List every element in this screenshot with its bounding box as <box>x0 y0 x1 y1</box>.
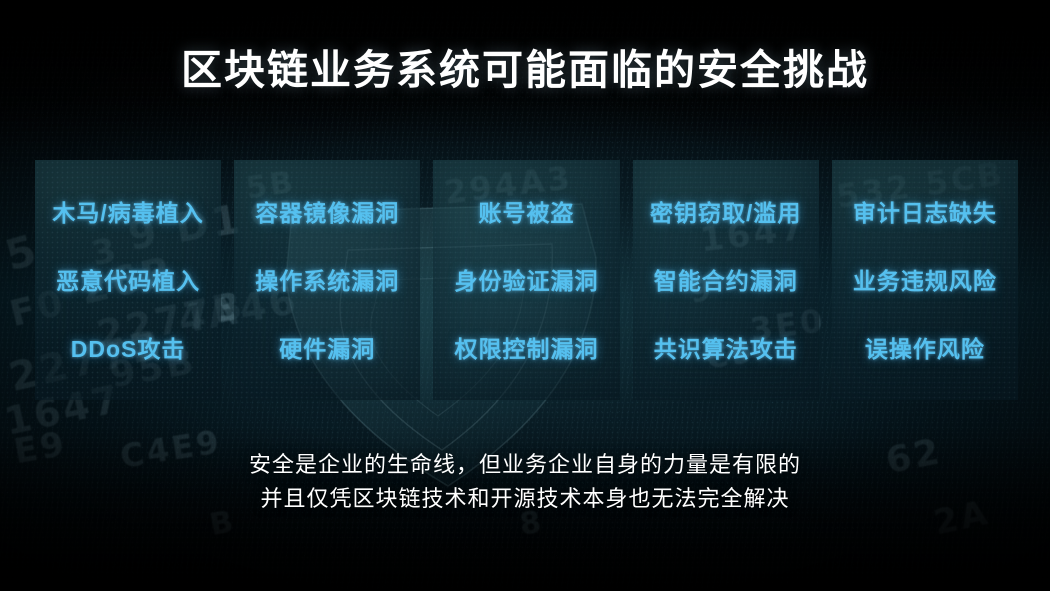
risk-item: 密钥窃取/滥用 <box>650 201 801 226</box>
footer-line-1: 安全是企业的生命线，但业务企业自身的力量是有限的 <box>0 448 1050 482</box>
risk-item: 硬件漏洞 <box>279 337 375 362</box>
slide-root: 5 3 9 D1 26B F0 2277B 4A46 2277B 95B 164… <box>0 0 1050 591</box>
risk-item: DDoS攻击 <box>71 337 186 362</box>
risk-grid: 木马/病毒植入 恶意代码植入 DDoS攻击 容器镜像漏洞 操作系统漏洞 硬件漏洞… <box>35 160 1018 400</box>
risk-item: 审计日志缺失 <box>853 201 997 226</box>
page-title: 区块链业务系统可能面临的安全挑战 <box>0 36 1050 96</box>
risk-item: 账号被盗 <box>479 201 575 226</box>
risk-item: 误操作风险 <box>865 337 985 362</box>
footer-line-2: 并且仅凭区块链技术和开源技术本身也无法完全解决 <box>0 482 1050 516</box>
risk-column-4: 密钥窃取/滥用 智能合约漏洞 共识算法攻击 <box>633 160 819 400</box>
footer-statement: 安全是企业的生命线，但业务企业自身的力量是有限的 并且仅凭区块链技术和开源技术本… <box>0 448 1050 516</box>
risk-item: 权限控制漏洞 <box>455 337 599 362</box>
risk-item: 木马/病毒植入 <box>52 201 203 226</box>
risk-item: 容器镜像漏洞 <box>255 201 399 226</box>
risk-item: 智能合约漏洞 <box>654 269 798 294</box>
risk-column-1: 木马/病毒植入 恶意代码植入 DDoS攻击 <box>35 160 221 400</box>
risk-column-2: 容器镜像漏洞 操作系统漏洞 硬件漏洞 <box>234 160 420 400</box>
risk-item: 恶意代码植入 <box>56 269 200 294</box>
risk-item: 业务违规风险 <box>853 269 997 294</box>
risk-item: 身份验证漏洞 <box>455 269 599 294</box>
risk-item: 共识算法攻击 <box>654 337 798 362</box>
risk-column-5: 审计日志缺失 业务违规风险 误操作风险 <box>832 160 1018 400</box>
risk-column-3: 账号被盗 身份验证漏洞 权限控制漏洞 <box>433 160 619 400</box>
risk-item: 操作系统漏洞 <box>255 269 399 294</box>
